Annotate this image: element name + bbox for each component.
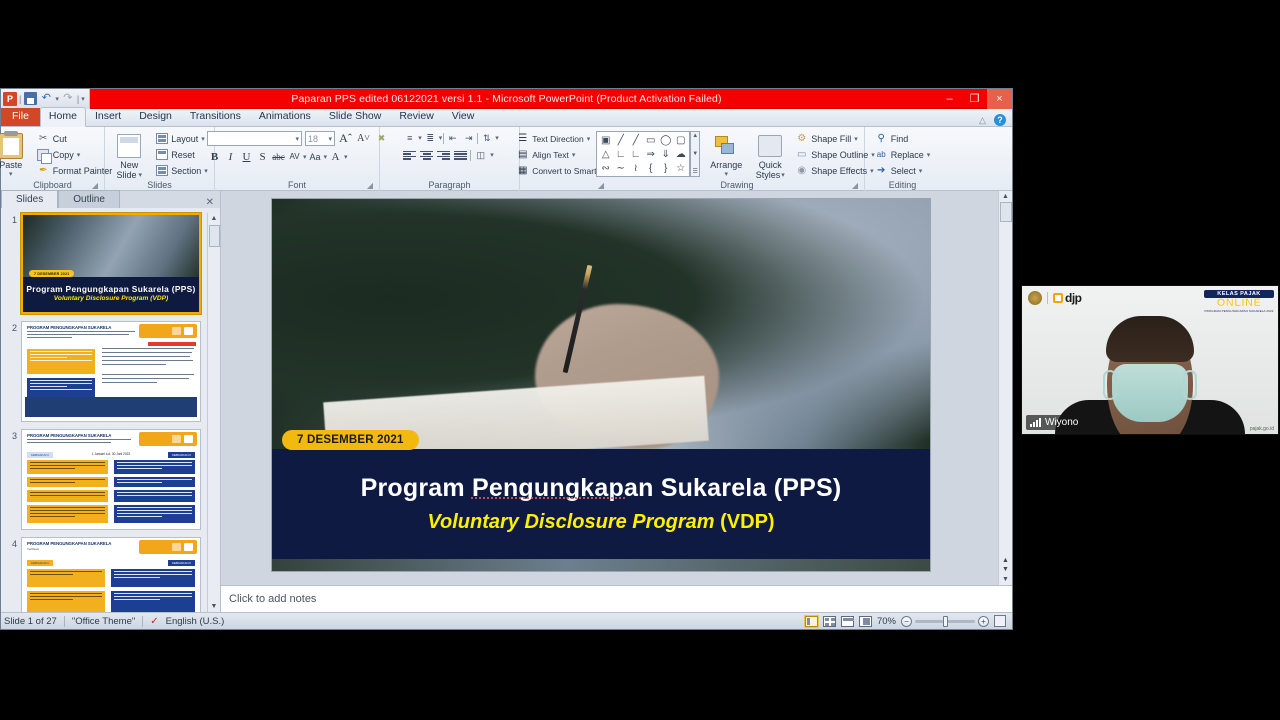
redo-icon[interactable]: ↷ <box>61 92 75 106</box>
section-button[interactable]: Section ▾ <box>152 163 211 178</box>
shape-right-arrow-icon[interactable]: ⇒ <box>643 147 658 161</box>
layout-button[interactable]: Layout ▾ <box>152 131 211 146</box>
tab-file[interactable]: File <box>1 108 40 126</box>
shapes-more-icon[interactable]: ☰ <box>693 168 698 175</box>
arrange-label: Arrange <box>710 160 742 170</box>
tab-design[interactable]: Design <box>130 108 181 126</box>
paste-dropdown-icon[interactable]: ▾ <box>9 170 13 178</box>
shape-cloud-icon[interactable]: ☁ <box>673 147 688 161</box>
notes-pane[interactable]: Click to add notes <box>221 585 1012 612</box>
shape-outline-label: Shape Outline <box>811 150 868 160</box>
thumbnail-subheading: Verifikasi <box>27 547 39 551</box>
font-name-input[interactable]: ▾ <box>207 131 302 146</box>
status-divider-2 <box>142 616 143 627</box>
strikethrough-button[interactable]: abc <box>271 149 286 164</box>
thumbnail-yellow-box-3 <box>27 490 108 502</box>
notes-placeholder: Click to add notes <box>229 593 316 605</box>
new-slide-icon <box>117 132 141 160</box>
layout-icon <box>155 132 168 145</box>
slide-thumbnail-1[interactable]: 7 DESEMBER 2021 Program Pengungkapan Suk… <box>21 213 201 314</box>
thumbnail-number: 1 <box>7 213 17 225</box>
arrange-icon <box>715 132 737 160</box>
watermark-url: pajak.go.id <box>1250 426 1274 432</box>
cut-label: Cut <box>53 134 67 144</box>
zoom-out-button[interactable]: − <box>901 616 912 627</box>
close-slides-panel-icon[interactable]: ✕ <box>200 197 220 208</box>
shape-freeform-icon[interactable]: ∾ <box>598 161 613 175</box>
find-label: Find <box>891 134 909 144</box>
select-button[interactable]: ➔ Select ▾ <box>872 163 934 178</box>
thumbnail-photo <box>23 215 199 277</box>
line-spacing-dropdown-icon[interactable]: ▾ <box>495 134 499 142</box>
list-item[interactable]: 1 7 DESEMBER 2021 Program Pengungkapan S… <box>7 213 207 314</box>
signal-strength-icon <box>1030 418 1041 427</box>
status-divider <box>64 616 65 627</box>
shape-rectangle-icon[interactable]: ▭ <box>643 133 658 147</box>
face-mask <box>1112 364 1188 422</box>
thumbnail-yellow-box-2 <box>27 477 108 487</box>
reset-label: Reset <box>171 150 195 160</box>
badge-line-3: PROGRAM PENGUNGKAPAN SUKARELA 2022 <box>1204 309 1274 313</box>
ribbon-group-drawing: ▣ ╱ ╱ ▭ ◯ ▢ △ ∟ ∟ ⇒ ⇓ ☁ ∾ ∼ ≀ <box>610 127 865 191</box>
scroll-down-icon[interactable]: ▼ <box>211 601 218 612</box>
align-left-icon[interactable] <box>402 148 417 162</box>
normal-view-button[interactable] <box>805 616 818 627</box>
slides-panel: Slides Outline ✕ 1 7 DESEMBER 2021 Progr… <box>1 191 221 612</box>
quick-styles-label-1: Quick <box>759 160 782 170</box>
slide-subtitle-plain: (VDP) <box>715 511 775 533</box>
copy-icon <box>37 148 50 161</box>
slide-editor: 7 DESEMBER 2021 Program Pengungkapan Suk… <box>221 191 1012 612</box>
shape-effects-label: Shape Effects <box>811 166 867 176</box>
slide-thumbnail-2[interactable]: PROGRAM PENGUNGKAPAN SUKARELA <box>21 321 201 422</box>
text-direction-icon: ☰ <box>516 132 529 145</box>
shape-outline-icon: ▭ <box>795 148 808 161</box>
paragraph-dialog-launcher-icon[interactable]: ◢ <box>598 180 604 191</box>
align-text-icon: ▤ <box>516 148 529 161</box>
language-indicator[interactable]: English (U.S.) <box>166 616 225 627</box>
tab-home[interactable]: Home <box>40 107 86 127</box>
change-case-button[interactable]: Aa <box>308 149 323 164</box>
thumbnail-logo-badge <box>139 540 197 554</box>
group-label-font: Font ◢ <box>219 180 375 191</box>
slide-counter: Slide 1 of 27 <box>4 616 57 627</box>
undo-icon[interactable]: ↶ <box>39 92 53 106</box>
select-label: Select <box>891 166 916 176</box>
slide-date-badge[interactable]: 7 DESEMBER 2021 <box>282 430 419 450</box>
shape-arrow-icon[interactable]: ╱ <box>628 133 643 147</box>
undo-dropdown-icon[interactable]: ▾ <box>55 95 59 103</box>
video-conference-panel[interactable]: djp KELAS PAJAK ONLINE PROGRAM PENGUNGKA… <box>1021 285 1279 435</box>
copy-button[interactable]: Copy ▾ <box>34 147 116 162</box>
slide-thumbnail-4[interactable]: PROGRAM PENGUNGKAPAN SUKARELA Verifikasi… <box>21 537 201 612</box>
paintbrush-icon: ✒ <box>37 164 50 177</box>
arrange-dropdown-icon[interactable]: ▾ <box>724 170 728 178</box>
new-slide-button[interactable]: New Slide ▾ <box>108 131 150 180</box>
thumbnail-blue-box-1 <box>114 460 195 474</box>
shape-textbox-icon[interactable]: ▣ <box>598 133 613 147</box>
participant-name: Wiyono <box>1045 417 1078 428</box>
thumbnail-tab-right: KEBIJAKAN II <box>168 560 195 566</box>
quick-styles-label-2: Styles <box>756 170 781 180</box>
zoom-track[interactable] <box>915 620 975 623</box>
ribbon-group-clipboard: Paste ▾ ✂ Cut Copy ▾ ✒ Format Pa <box>1 127 105 191</box>
shape-curve-icon[interactable]: ∼ <box>613 161 628 175</box>
spellcheck-squiggle <box>471 497 627 499</box>
tab-view[interactable]: View <box>443 108 484 126</box>
theme-name[interactable]: "Office Theme" <box>72 616 135 627</box>
slide-subtitle[interactable]: Voluntary Disclosure Program (VDP) <box>272 511 930 534</box>
slide-background-photo <box>272 199 930 449</box>
thumbnail-heading: PROGRAM PENGUNGKAPAN SUKARELA <box>27 541 111 546</box>
thumbnail-number: 4 <box>7 537 17 549</box>
bullets-dropdown-icon[interactable]: ▾ <box>418 134 422 142</box>
window-controls: – ❐ × <box>937 89 1012 109</box>
smartart-icon: ▦ <box>516 164 529 177</box>
change-case-dropdown-icon[interactable]: ▾ <box>324 153 328 161</box>
powerpoint-app-icon[interactable]: P <box>3 92 17 106</box>
thumbnail-logo-badge <box>139 432 197 446</box>
copy-dropdown-icon[interactable]: ▾ <box>77 151 81 159</box>
clipboard-label-text: Clipboard <box>33 180 72 190</box>
arrange-button[interactable]: Arrange ▾ <box>704 131 748 178</box>
thumbnail-blue-box-2 <box>114 477 195 487</box>
find-button[interactable]: ⚲ Find <box>872 131 934 146</box>
bold-button[interactable]: B <box>207 149 222 164</box>
group-label-slides: Slides <box>109 180 210 191</box>
help-icon[interactable]: ? <box>994 114 1006 126</box>
thumbnail-yellow-box-1 <box>27 569 105 587</box>
font-color-button[interactable]: A <box>328 149 343 164</box>
font-dialog-launcher-icon[interactable]: ◢ <box>367 180 373 191</box>
thumbnail-heading: PROGRAM PENGUNGKAPAN SUKARELA <box>27 325 111 330</box>
font-size-input[interactable]: 18 ▾ <box>305 131 335 146</box>
cursor-select-icon: ➔ <box>875 164 888 177</box>
thumbnail-blue-box-2 <box>111 591 195 612</box>
shape-right-brace-icon[interactable]: } <box>658 161 673 175</box>
columns-icon[interactable]: ◫ <box>473 148 488 162</box>
thumbnail-right-text <box>102 348 194 403</box>
character-spacing-button[interactable]: AV <box>287 149 302 164</box>
work-area: Slides Outline ✕ 1 7 DESEMBER 2021 Progr… <box>1 191 1012 612</box>
ribbon-tabs: File Home Insert Design Transitions Anim… <box>1 109 1012 127</box>
logo-divider <box>1047 292 1048 304</box>
tab-slides-thumbnails[interactable]: Slides <box>1 190 58 208</box>
italic-button[interactable]: I <box>223 149 238 164</box>
paste-label: Paste <box>0 160 22 170</box>
scrollbar-thumb[interactable] <box>209 225 220 247</box>
font-color-dropdown-icon[interactable]: ▾ <box>344 153 348 161</box>
thumbnail-yellow-box <box>27 349 95 374</box>
align-center-icon[interactable] <box>419 148 434 162</box>
format-painter-label: Format Painter <box>53 166 113 176</box>
thumbnail-red-note <box>148 342 196 346</box>
next-slide-icon[interactable]: ▼ <box>1002 565 1009 574</box>
quick-styles-button[interactable]: Quick Styles ▾ <box>752 131 788 180</box>
replace-icon: ab <box>875 148 888 161</box>
cut-button[interactable]: ✂ Cut <box>34 131 116 146</box>
thumbnail-yellow-box-1 <box>27 460 108 474</box>
minimize-ribbon-icon[interactable]: △ <box>979 116 988 125</box>
save-icon[interactable] <box>23 92 37 106</box>
restore-button[interactable]: ❐ <box>962 89 987 109</box>
font-label-text: Font <box>288 180 306 190</box>
new-slide-label-1: New <box>120 160 138 170</box>
justify-icon[interactable] <box>453 148 468 162</box>
minimize-button[interactable]: – <box>937 89 962 109</box>
scrollbar-thumb[interactable] <box>1000 202 1012 222</box>
copy-label: Copy <box>53 150 74 160</box>
qat-divider-2: | <box>77 94 79 104</box>
customize-qat-icon[interactable]: ▾ <box>81 95 85 103</box>
binoculars-icon: ⚲ <box>875 132 888 145</box>
numbering-dropdown-icon[interactable]: ▾ <box>439 134 443 142</box>
new-slide-dropdown-icon[interactable]: ▾ <box>138 171 142 179</box>
replace-label: Replace <box>891 150 924 160</box>
tab-transitions[interactable]: Transitions <box>181 108 250 126</box>
slides-panel-tabs: Slides Outline ✕ <box>1 191 220 208</box>
tab-review[interactable]: Review <box>390 108 442 126</box>
new-slide-label-2: Slide <box>116 170 136 180</box>
minimize-glyph: – <box>946 93 952 105</box>
align-text-label: Align Text <box>532 150 569 160</box>
scissors-icon: ✂ <box>37 132 50 145</box>
editing-label-text: Editing <box>889 180 917 190</box>
ribbon-group-font: ▾ 18 ▾ Aˆ A˅ ✖ B I U S abc AV <box>215 127 380 191</box>
shrink-font-button[interactable]: A˅ <box>356 131 371 146</box>
quick-access-toolbar[interactable]: P | ↶ ▾ ↷ | ▾ <box>1 89 90 109</box>
line-spacing-icon[interactable]: ⇅ <box>479 131 494 145</box>
zoom-knob[interactable] <box>943 616 948 627</box>
close-glyph: × <box>996 93 1002 105</box>
ribbon-tabs-right: △ ? <box>979 114 1012 126</box>
text-direction-dropdown-icon[interactable]: ▾ <box>587 135 591 143</box>
thumbnail-heading: PROGRAM PENGUNGKAPAN SUKARELA <box>27 433 111 438</box>
list-item[interactable]: 3 PROGRAM PENGUNGKAPAN SUKARELA KEBIJAKA… <box>7 429 207 530</box>
underline-button[interactable]: U <box>239 149 254 164</box>
shape-oval-icon[interactable]: ◯ <box>658 133 673 147</box>
shapes-scroll-down-icon[interactable]: ▼ <box>692 151 698 157</box>
title-bar: P | ↶ ▾ ↷ | ▾ Paparan PPS edited 0612202… <box>1 89 1012 109</box>
quick-styles-dropdown-icon[interactable]: ▾ <box>781 171 785 179</box>
shape-elbow2-icon[interactable]: ∟ <box>628 147 643 161</box>
ribbon: Paste ▾ ✂ Cut Copy ▾ ✒ Format Pa <box>1 127 1012 191</box>
slide-title-band <box>272 449 930 559</box>
align-right-icon[interactable] <box>436 148 451 162</box>
columns-dropdown-icon[interactable]: ▾ <box>490 151 494 159</box>
layout-label: Layout <box>171 134 198 144</box>
decrease-indent-icon[interactable]: ⇤ <box>445 131 460 145</box>
text-shadow-button[interactable]: S <box>255 149 270 164</box>
zoom-slider[interactable]: − + <box>901 616 989 627</box>
ribbon-group-editing: ⚲ Find ab Replace ▾ ➔ Select ▾ <box>865 127 940 191</box>
slide-bottom-photo-strip <box>272 559 930 571</box>
replace-button[interactable]: ab Replace ▾ <box>872 147 934 162</box>
thumbnail-footer-bar <box>25 397 197 417</box>
format-painter-button[interactable]: ✒ Format Painter <box>34 163 116 178</box>
slides-panel-scrollbar[interactable]: ▲ ▼ <box>207 213 220 612</box>
tab-insert[interactable]: Insert <box>86 108 130 126</box>
previous-slide-icon[interactable]: ▲ <box>1002 556 1009 565</box>
restore-glyph: ❐ <box>970 92 980 105</box>
thumbnail-yellow-box-4 <box>27 505 108 523</box>
djp-logo: djp <box>1053 291 1082 305</box>
slide-vertical-scrollbar[interactable]: ▲ ▲ ▼ ▼ <box>998 191 1012 585</box>
numbering-icon[interactable]: ≣ <box>423 131 438 145</box>
font-size-value: 18 <box>308 134 318 144</box>
reset-icon <box>155 148 168 161</box>
drawing-dialog-launcher-icon[interactable]: ◢ <box>852 180 858 191</box>
scroll-down-icon[interactable]: ▼ <box>1002 574 1009 585</box>
window-title: Paparan PPS edited 06122021 versi 1.1 - … <box>1 89 1012 109</box>
djp-mark-icon <box>1053 293 1063 303</box>
slide-thumbnail-list[interactable]: 1 7 DESEMBER 2021 Program Pengungkapan S… <box>1 208 220 612</box>
shape-effects-icon: ◉ <box>795 164 808 177</box>
shape-triangle-icon[interactable]: △ <box>598 147 613 161</box>
current-slide[interactable]: 7 DESEMBER 2021 Program Pengungkapan Suk… <box>271 198 931 572</box>
slide-subtitle-italic: Voluntary Disclosure Program <box>427 511 714 533</box>
list-item[interactable]: 2 PROGRAM PENGUNGKAPAN SUKARELA <box>7 321 207 422</box>
shapes-gallery-scroll[interactable]: ▲ ▼ ☰ <box>690 131 700 177</box>
thumbnail-yellow-box-2 <box>27 591 105 612</box>
ribbon-group-slides: New Slide ▾ Layout ▾ Reset <box>105 127 215 191</box>
increase-indent-icon[interactable]: ⇥ <box>461 131 476 145</box>
character-spacing-dropdown-icon[interactable]: ▾ <box>303 153 307 161</box>
scroll-up-icon[interactable]: ▲ <box>1002 191 1009 202</box>
group-label-paragraph: Paragraph <box>384 180 515 191</box>
shape-line-icon[interactable]: ╱ <box>613 133 628 147</box>
kelas-pajak-online-badge: KELAS PAJAK ONLINE PROGRAM PENGUNGKAPAN … <box>1204 290 1274 313</box>
tab-animations[interactable]: Animations <box>250 108 320 126</box>
align-text-dropdown-icon[interactable]: ▾ <box>572 151 576 159</box>
thumbnail-blue-box-4 <box>114 505 195 523</box>
tab-slide-show[interactable]: Slide Show <box>320 108 391 126</box>
thumbnail-number: 2 <box>7 321 17 333</box>
slide-thumbnail-3[interactable]: PROGRAM PENGUNGKAPAN SUKARELA KEBIJAKAN … <box>21 429 201 530</box>
slides-label-text: Slides <box>147 180 172 190</box>
shape-rounded-rect-icon[interactable]: ▢ <box>673 133 688 147</box>
paste-button[interactable]: Paste ▾ <box>0 131 32 178</box>
djp-wordmark: djp <box>1065 291 1082 305</box>
paste-icon <box>0 132 23 160</box>
shape-down-arrow-icon[interactable]: ⇓ <box>658 147 673 161</box>
text-direction-label: Text Direction <box>532 134 584 144</box>
participant-name-chip: Wiyono <box>1026 415 1084 430</box>
thumbnail-number: 3 <box>7 429 17 441</box>
zoom-in-button[interactable]: + <box>978 616 989 627</box>
djp-logo-group: djp <box>1028 291 1082 305</box>
ribbon-group-paragraph: ≡ ▾ ≣ ▾ ⇤ ⇥ ⇅ ▾ ◫ <box>380 127 520 191</box>
shape-fill-icon: ⚙ <box>795 132 808 145</box>
fit-slide-to-window-icon[interactable] <box>994 615 1006 627</box>
reset-button[interactable]: Reset <box>152 147 211 162</box>
grow-font-button[interactable]: Aˆ <box>338 131 353 146</box>
qat-divider: | <box>19 94 21 104</box>
participant-hair <box>1106 316 1194 362</box>
shape-elbow-icon[interactable]: ∟ <box>613 147 628 161</box>
group-label-editing: Editing <box>869 180 936 191</box>
bullets-icon[interactable]: ≡ <box>402 131 417 145</box>
status-bar: Slide 1 of 27 "Office Theme" ✓ English (… <box>1 612 1012 629</box>
badge-line-2: ONLINE <box>1204 298 1274 309</box>
close-button[interactable]: × <box>987 89 1012 109</box>
group-label-paragraph-extra: ◢ <box>524 180 606 191</box>
section-icon <box>155 164 168 177</box>
kemenkeu-crest-icon <box>1028 291 1042 305</box>
status-bar-right: 70% − + <box>805 615 1009 627</box>
thumbnail-period: 1 Januari s.d. 30 Juni 2022 <box>22 452 200 456</box>
font-size-dropdown-icon[interactable]: ▾ <box>328 135 332 143</box>
thumbnail-blue-box-1 <box>111 569 195 587</box>
slide-sorter-view-button[interactable] <box>823 616 836 627</box>
zoom-level[interactable]: 70% <box>877 616 896 627</box>
scroll-up-icon[interactable]: ▲ <box>211 213 218 224</box>
drawing-label-text: Drawing <box>720 180 753 190</box>
thumbnail-logo-badge <box>139 324 197 338</box>
shape-fill-dropdown-icon[interactable]: ▾ <box>854 135 858 143</box>
thumbnail-date-badge: 7 DESEMBER 2021 <box>29 270 74 277</box>
thumbnail-title: Program Pengungkapan Sukarela (PPS) <box>23 284 199 294</box>
group-label-drawing: Drawing ◢ <box>614 180 860 191</box>
shapes-scroll-up-icon[interactable]: ▲ <box>692 133 698 139</box>
replace-dropdown-icon[interactable]: ▾ <box>927 151 931 159</box>
slide-canvas-area[interactable]: 7 DESEMBER 2021 Program Pengungkapan Suk… <box>221 191 1012 585</box>
paragraph-label-text: Paragraph <box>428 180 470 190</box>
tab-outline[interactable]: Outline <box>58 190 120 208</box>
select-dropdown-icon[interactable]: ▾ <box>919 167 923 175</box>
font-name-dropdown-icon[interactable]: ▾ <box>295 135 299 143</box>
shape-fill-label: Shape Fill <box>811 134 851 144</box>
powerpoint-window: P | ↶ ▾ ↷ | ▾ Paparan PPS edited 0612202… <box>0 88 1013 630</box>
shape-star-icon[interactable]: ☆ <box>673 161 688 175</box>
spellcheck-icon[interactable]: ✓ <box>150 616 158 627</box>
shapes-gallery[interactable]: ▣ ╱ ╱ ▭ ◯ ▢ △ ∟ ∟ ⇒ ⇓ ☁ ∾ ∼ ≀ <box>596 131 690 177</box>
thumbnail-subtitle: Voluntary Disclosure Program (VDP) <box>23 295 199 302</box>
reading-view-button[interactable] <box>841 616 854 627</box>
list-item[interactable]: 4 PROGRAM PENGUNGKAPAN SUKARELA Verifika… <box>7 537 207 612</box>
shape-arc-icon[interactable]: ≀ <box>628 161 643 175</box>
shape-left-brace-icon[interactable]: { <box>643 161 658 175</box>
thumbnail-blue-box-3 <box>114 490 195 502</box>
slide-show-view-button[interactable] <box>859 616 872 627</box>
quick-styles-icon <box>758 132 782 160</box>
section-label: Section <box>171 166 201 176</box>
thumbnail-tab-left: KEBIJAKAN I <box>27 560 53 566</box>
